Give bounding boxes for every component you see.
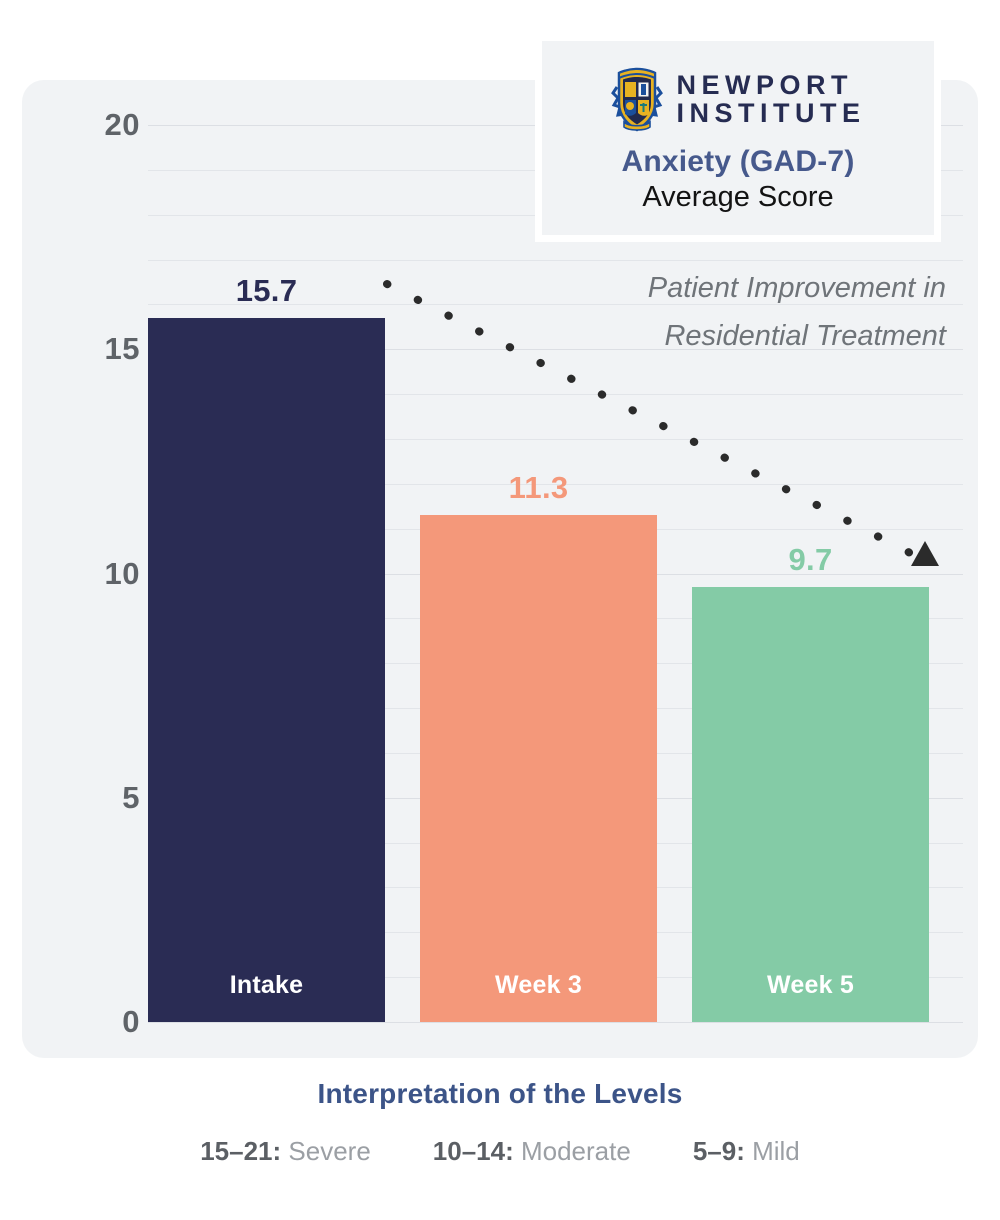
annotation-line-1: Patient Improvement in xyxy=(556,264,946,312)
footer: Interpretation of the Levels 15–21: Seve… xyxy=(0,1078,1000,1167)
bar[interactable]: Week 5 xyxy=(692,587,929,1022)
title-card: NEWPORT INSTITUTE Anxiety (GAD-7) Averag… xyxy=(535,34,941,242)
newport-shield-crest-icon xyxy=(611,67,663,133)
card-subtitle: Average Score xyxy=(642,181,833,214)
gridline xyxy=(148,1022,963,1023)
y-axis-tick-label: 15 xyxy=(30,331,140,367)
brand-line-1: NEWPORT xyxy=(677,72,866,100)
legend-range: 5–9: xyxy=(693,1136,745,1166)
y-axis-tick-label: 20 xyxy=(30,107,140,143)
legend-item: 15–21: Severe xyxy=(200,1136,371,1167)
legend-row: 15–21: Severe10–14: Moderate5–9: Mild xyxy=(0,1136,1000,1167)
legend-range: 15–21: xyxy=(200,1136,281,1166)
legend-label: Mild xyxy=(745,1136,800,1166)
bar-category-label: Week 5 xyxy=(692,971,929,1000)
y-axis-tick-label: 10 xyxy=(30,556,140,592)
annotation-line-2: Residential Treatment xyxy=(556,312,946,360)
bar-value-label: 9.7 xyxy=(692,542,929,578)
y-axis: 05101520 xyxy=(22,125,140,1022)
bar-category-label: Intake xyxy=(148,971,385,1000)
footer-title: Interpretation of the Levels xyxy=(0,1078,1000,1110)
bar-value-label: 15.7 xyxy=(148,273,385,309)
chart-annotation: Patient Improvement in Residential Treat… xyxy=(556,264,946,360)
plot-area: Intake15.7Week 311.3Week 59.7 xyxy=(148,125,963,1022)
brand-row: NEWPORT INSTITUTE xyxy=(611,67,866,133)
legend-item: 10–14: Moderate xyxy=(433,1136,631,1167)
gridline xyxy=(148,260,963,261)
legend-range: 10–14: xyxy=(433,1136,514,1166)
card-title: Anxiety (GAD-7) xyxy=(621,145,854,179)
bar[interactable]: Intake xyxy=(148,318,385,1022)
brand-wordmark: NEWPORT INSTITUTE xyxy=(677,72,866,127)
legend-item: 5–9: Mild xyxy=(693,1136,800,1167)
chart-page: 05101520 Intake15.7Week 311.3Week 59.7 xyxy=(0,0,1000,1220)
y-axis-tick-label: 5 xyxy=(30,780,140,816)
bar-category-label: Week 3 xyxy=(420,971,657,1000)
brand-line-2: INSTITUTE xyxy=(677,100,866,128)
legend-label: Severe xyxy=(281,1136,371,1166)
bar-value-label: 11.3 xyxy=(420,470,657,506)
legend-label: Moderate xyxy=(514,1136,631,1166)
bar[interactable]: Week 3 xyxy=(420,515,657,1022)
y-axis-tick-label: 0 xyxy=(30,1004,140,1040)
